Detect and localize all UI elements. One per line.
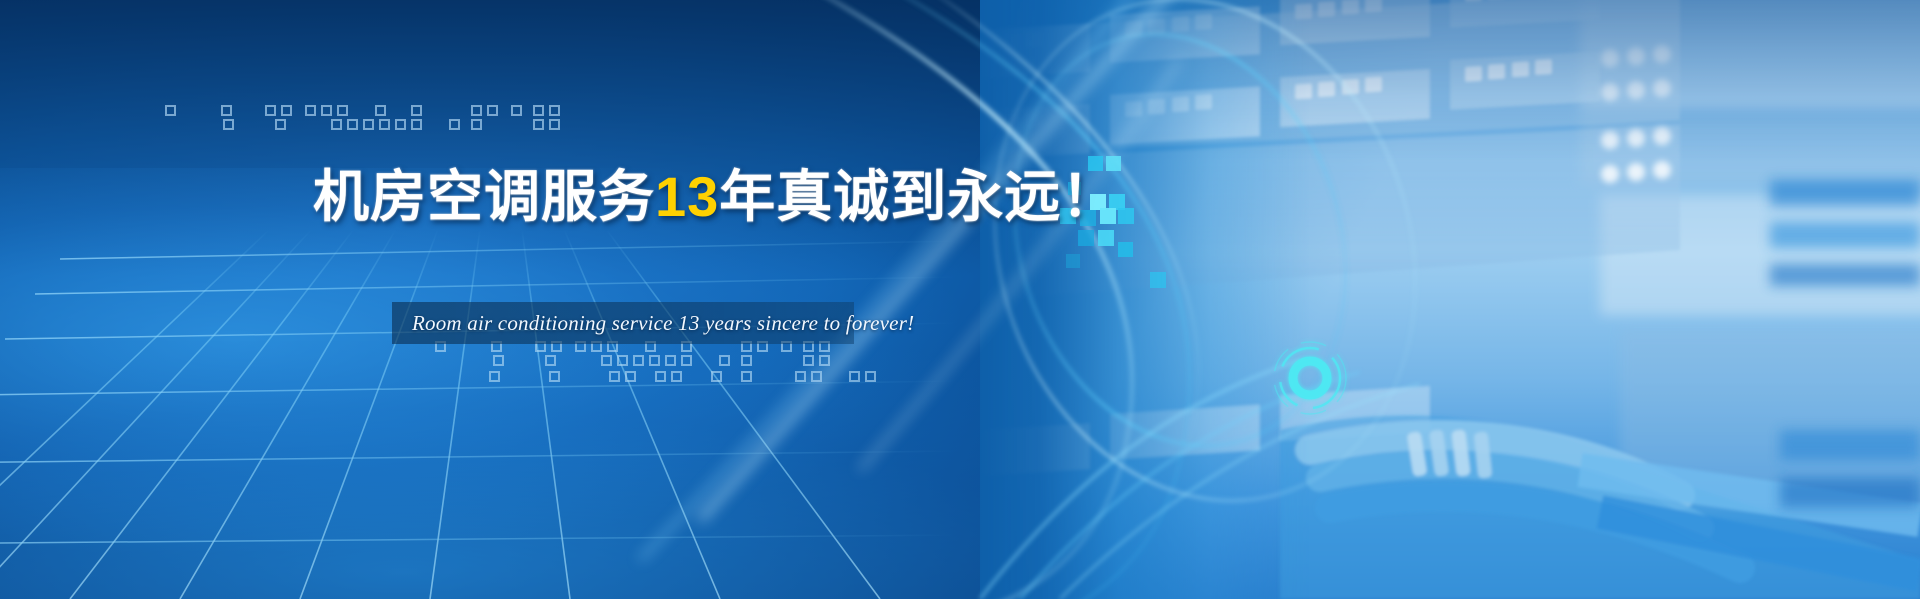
headline-part-1: 机房空调服务 [313,165,655,228]
headline-highlight-number: 13 [655,165,719,228]
pixel-square-row-bottom [430,338,900,394]
hero-banner: 机房空调服务13年真诚到永远！ Room air conditioning se… [0,0,1920,599]
pixel-square-row-top [160,100,560,134]
perspective-floor-grid [0,199,960,599]
banner-headline: 机房空调服务13年真诚到永远！ [313,168,1118,227]
banner-subtitle: Room air conditioning service 13 years s… [412,303,842,343]
headline-exclamation: ！ [1061,165,1118,228]
glowing-tech-ring-icon [1268,336,1352,420]
headline-part-2: 年真诚到永远 [719,165,1061,228]
